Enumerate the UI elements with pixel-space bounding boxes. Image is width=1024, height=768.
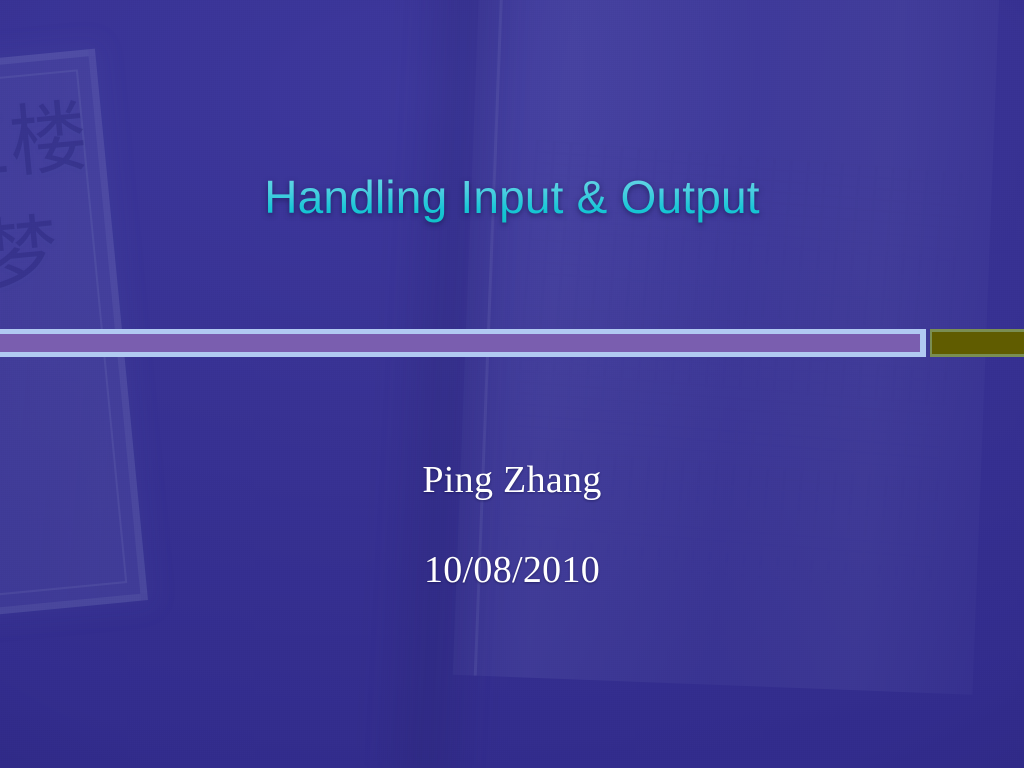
divider-bar [0, 329, 1024, 357]
slide-subtitle: Ping Zhang 10/08/2010 [0, 458, 1024, 592]
slide-date: 10/08/2010 [0, 548, 1024, 593]
divider-fill [0, 334, 920, 352]
slide-title: Handling Input & Output [0, 172, 1024, 223]
divider-accent-block [932, 332, 1024, 354]
presenter-name: Ping Zhang [0, 458, 1024, 503]
paper-grain-texture [0, 0, 1024, 768]
title-slide: 红楼梦 Handling Input & Output Ping Zhang 1… [0, 0, 1024, 768]
